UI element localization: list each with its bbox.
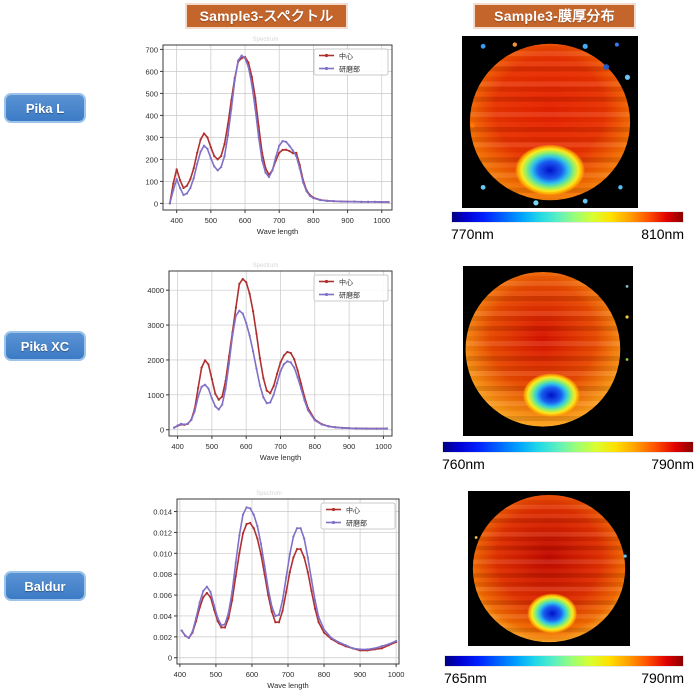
svg-text:100: 100 — [145, 177, 158, 186]
svg-text:0.008: 0.008 — [153, 570, 172, 579]
svg-text:0: 0 — [168, 654, 172, 663]
colorbar-pika-xc: 760nm 790nm — [442, 441, 694, 472]
svg-text:4000: 4000 — [147, 286, 164, 295]
svg-text:800: 800 — [309, 442, 322, 451]
svg-text:中心: 中心 — [339, 278, 353, 287]
svg-text:Spectrum: Spectrum — [253, 37, 279, 43]
svg-text:400: 400 — [145, 111, 158, 120]
svg-text:0.002: 0.002 — [153, 633, 172, 642]
svg-text:200: 200 — [145, 155, 158, 164]
svg-text:0.006: 0.006 — [153, 591, 172, 600]
sidebar-item-label: Baldur — [24, 579, 65, 594]
svg-text:Spectrum: Spectrum — [256, 491, 282, 497]
svg-text:300: 300 — [145, 133, 158, 142]
sidebar-item-label: Pika L — [26, 101, 64, 116]
svg-text:Wave length: Wave length — [267, 681, 308, 690]
svg-text:研磨部: 研磨部 — [339, 65, 360, 74]
svg-text:800: 800 — [318, 670, 331, 679]
svg-text:500: 500 — [205, 216, 218, 225]
svg-text:700: 700 — [274, 442, 287, 451]
svg-text:3000: 3000 — [147, 321, 164, 330]
colorbar-min-label: 770nm — [451, 226, 494, 242]
spectrum-chart-pika-l: Spectrum01002003004005006007004005006007… — [133, 36, 398, 236]
svg-text:1000: 1000 — [388, 670, 405, 679]
colorbar-pika-l: 770nm 810nm — [451, 211, 684, 242]
svg-text:700: 700 — [273, 216, 286, 225]
svg-text:研磨部: 研磨部 — [346, 519, 367, 528]
sidebar-item-pika-l[interactable]: Pika L — [4, 93, 86, 123]
sidebar-item-pika-xc[interactable]: Pika XC — [4, 331, 86, 361]
svg-text:800: 800 — [307, 216, 320, 225]
header-banner-thickness-label: Sample3-膜厚分布 — [494, 6, 615, 26]
svg-text:600: 600 — [246, 670, 259, 679]
svg-text:Wave length: Wave length — [257, 227, 298, 236]
svg-text:700: 700 — [145, 45, 158, 54]
svg-text:2000: 2000 — [147, 356, 164, 365]
colorbar-labels: 770nm 810nm — [451, 226, 684, 242]
svg-text:中心: 中心 — [346, 506, 360, 515]
colorbar-labels: 760nm 790nm — [442, 456, 694, 472]
svg-text:600: 600 — [240, 442, 253, 451]
header-banner-spectrum-label: Sample3-スペクトル — [200, 6, 334, 26]
svg-text:500: 500 — [145, 89, 158, 98]
colorbar-gradient — [442, 441, 694, 453]
colorbar-labels: 765nm 790nm — [444, 670, 684, 686]
header-banner-spectrum: Sample3-スペクトル — [185, 3, 348, 29]
svg-text:400: 400 — [170, 216, 183, 225]
header-banner-thickness: Sample3-膜厚分布 — [473, 3, 636, 29]
svg-text:1000: 1000 — [375, 442, 392, 451]
thickness-map-pika-l — [462, 36, 638, 208]
svg-text:0: 0 — [160, 426, 164, 435]
svg-text:500: 500 — [206, 442, 219, 451]
svg-text:0.004: 0.004 — [153, 612, 172, 621]
svg-text:400: 400 — [174, 670, 187, 679]
colorbar-max-label: 810nm — [641, 226, 684, 242]
svg-text:中心: 中心 — [339, 52, 353, 61]
colorbar-min-label: 765nm — [444, 670, 487, 686]
slide-canvas: Sample3-スペクトル Sample3-膜厚分布 Pika L Pika X… — [0, 0, 700, 700]
svg-text:500: 500 — [210, 670, 223, 679]
thickness-map-pika-xc — [463, 266, 633, 436]
svg-text:900: 900 — [354, 670, 367, 679]
svg-text:900: 900 — [343, 442, 356, 451]
colorbar-min-label: 760nm — [442, 456, 485, 472]
svg-text:0.012: 0.012 — [153, 528, 172, 537]
svg-text:0.010: 0.010 — [153, 549, 172, 558]
svg-text:0: 0 — [154, 199, 158, 208]
colorbar-gradient — [451, 211, 684, 223]
svg-text:Spectrum: Spectrum — [253, 263, 279, 269]
svg-text:600: 600 — [145, 67, 158, 76]
svg-text:研磨部: 研磨部 — [339, 291, 360, 300]
svg-text:900: 900 — [341, 216, 354, 225]
sidebar-item-baldur[interactable]: Baldur — [4, 571, 86, 601]
svg-text:0.014: 0.014 — [153, 508, 172, 517]
thickness-map-baldur — [468, 491, 630, 646]
colorbar-max-label: 790nm — [651, 456, 694, 472]
spectrum-chart-baldur: Spectrum00.0020.0040.0060.0080.0100.0120… — [133, 490, 405, 690]
svg-text:Wave length: Wave length — [260, 453, 301, 462]
colorbar-max-label: 790nm — [641, 670, 684, 686]
svg-text:1000: 1000 — [373, 216, 390, 225]
svg-text:400: 400 — [171, 442, 184, 451]
colorbar-gradient — [444, 655, 684, 667]
sidebar-item-label: Pika XC — [21, 339, 69, 354]
colorbar-baldur: 765nm 790nm — [444, 655, 684, 686]
svg-text:700: 700 — [282, 670, 295, 679]
spectrum-chart-pika-xc: Spectrum01000200030004000400500600700800… — [133, 262, 398, 462]
svg-text:1000: 1000 — [147, 391, 164, 400]
svg-text:600: 600 — [239, 216, 252, 225]
